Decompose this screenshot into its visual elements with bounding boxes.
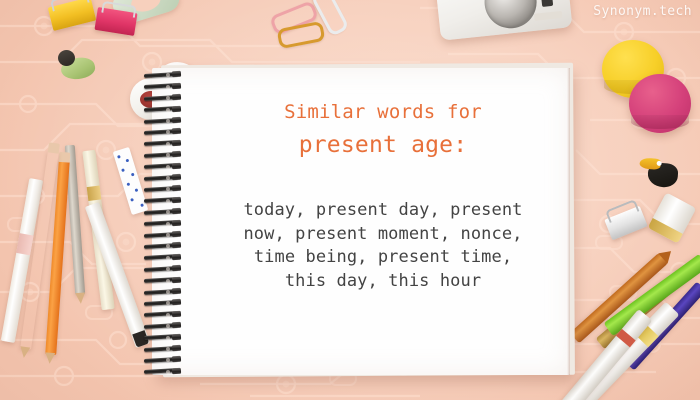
site-logo: Synonym.tech — [593, 4, 692, 20]
macaron-pink — [629, 74, 691, 133]
spiral-coil — [142, 300, 184, 307]
spiral-coil — [142, 163, 184, 170]
coil-cap — [172, 94, 181, 101]
camera-button — [541, 0, 553, 7]
coil-hole — [166, 347, 170, 351]
spiral-coil — [142, 118, 184, 125]
coil-hole — [166, 279, 170, 283]
spiral-coil — [142, 220, 184, 227]
coil-hole — [166, 199, 170, 203]
coil-cap — [172, 322, 181, 329]
bird-eraser-object — [58, 50, 98, 80]
coil-cap — [172, 197, 181, 204]
spiral-coil — [142, 72, 184, 79]
page-heading-line-1: Similar words for — [196, 99, 570, 125]
coil-hole — [166, 108, 170, 112]
synonym-line: now, present moment, nonce, — [204, 223, 562, 247]
pencil-cap — [48, 142, 60, 153]
coil-cap — [172, 83, 181, 90]
coil-hole — [166, 73, 170, 77]
bird-head — [58, 50, 75, 66]
coil-cap — [172, 242, 181, 249]
spiral-binding — [142, 66, 190, 378]
page-text-block: Similar words for present age: today, pr… — [196, 68, 570, 375]
coil-hole — [166, 244, 170, 248]
coil-cap — [172, 151, 181, 158]
macaron-ridge — [631, 115, 689, 129]
spiral-coil — [142, 197, 184, 204]
spiral-coil — [142, 175, 184, 182]
coil-hole — [166, 256, 170, 260]
spiral-coil — [142, 106, 184, 113]
coil-hole — [166, 176, 170, 180]
pencil-tip — [75, 292, 86, 304]
synonym-list: today, present day, present now, present… — [196, 199, 570, 293]
coil-cap — [172, 333, 181, 340]
spiral-coil — [142, 83, 184, 90]
coil-hole — [166, 324, 170, 328]
coil-hole — [166, 358, 170, 362]
coil-cap — [172, 265, 181, 272]
coil-cap — [172, 162, 181, 169]
coil-cap — [172, 368, 181, 375]
coil-hole — [166, 130, 170, 134]
coil-hole — [166, 119, 170, 123]
coil-cap — [172, 276, 181, 283]
coil-hole — [166, 153, 170, 157]
coil-cap — [172, 71, 181, 78]
coil-cap — [172, 174, 181, 181]
notebook-page: Similar words for present age: today, pr… — [152, 68, 570, 375]
coil-hole — [166, 222, 170, 226]
coil-cap — [172, 288, 181, 295]
coil-hole — [166, 142, 170, 146]
coil-cap — [172, 140, 181, 147]
coil-cap — [172, 299, 181, 306]
pencil-tip — [19, 346, 30, 358]
coil-cap — [172, 356, 181, 363]
coil-cap — [172, 311, 181, 318]
coil-cap — [172, 117, 181, 124]
coil-hole — [166, 96, 170, 100]
camera-grip — [534, 11, 563, 21]
coil-cap — [172, 105, 181, 112]
coil-cap — [172, 219, 181, 226]
coil-hole — [166, 290, 170, 294]
spiral-coil — [142, 266, 184, 273]
coil-hole — [166, 210, 170, 214]
synonym-line: this day, this hour — [204, 270, 562, 294]
spiral-coil — [142, 346, 184, 353]
screenshot-root: Similar words for present age: today, pr… — [0, 0, 700, 400]
spiral-coil — [142, 140, 184, 147]
pencil-tip — [45, 352, 56, 364]
pencil-cap — [59, 152, 71, 163]
coil-cap — [172, 208, 181, 215]
page-heading-line-2: present age: — [196, 130, 570, 160]
spiral-coil — [142, 323, 184, 330]
spiral-coil — [142, 254, 184, 261]
coil-cap — [172, 185, 181, 192]
coil-hole — [166, 267, 170, 271]
coil-hole — [166, 165, 170, 169]
spiral-coil — [142, 129, 184, 136]
camera-lens — [482, 0, 539, 31]
spiral-coil — [142, 243, 184, 250]
spiral-coil — [142, 186, 184, 193]
spiral-coil — [142, 289, 184, 296]
spiral-coil — [142, 232, 184, 239]
spiral-coil — [142, 95, 184, 102]
spiral-coil — [142, 334, 184, 341]
coil-cap — [172, 128, 181, 135]
coil-hole — [166, 313, 170, 317]
spiral-coil — [142, 368, 184, 375]
coil-hole — [166, 301, 170, 305]
coil-cap — [172, 345, 181, 352]
clip-arm — [50, 0, 90, 12]
coil-cap — [172, 231, 181, 238]
coil-hole — [166, 233, 170, 237]
toucan-clip-object — [637, 153, 685, 192]
spiral-coil — [142, 357, 184, 364]
pen-gold-band — [87, 186, 102, 201]
spiral-coil — [142, 277, 184, 284]
spiral-coil — [142, 311, 184, 318]
coil-hole — [166, 336, 170, 340]
spiral-coil — [142, 152, 184, 159]
spiral-coil — [142, 209, 184, 216]
coil-hole — [166, 85, 170, 89]
synonym-line: today, present day, present — [204, 199, 562, 223]
notebook: Similar words for present age: today, pr… — [152, 68, 572, 378]
coil-hole — [166, 187, 170, 191]
coil-hole — [166, 370, 170, 374]
synonym-line: time being, present time, — [204, 246, 562, 270]
coil-cap — [172, 254, 181, 261]
